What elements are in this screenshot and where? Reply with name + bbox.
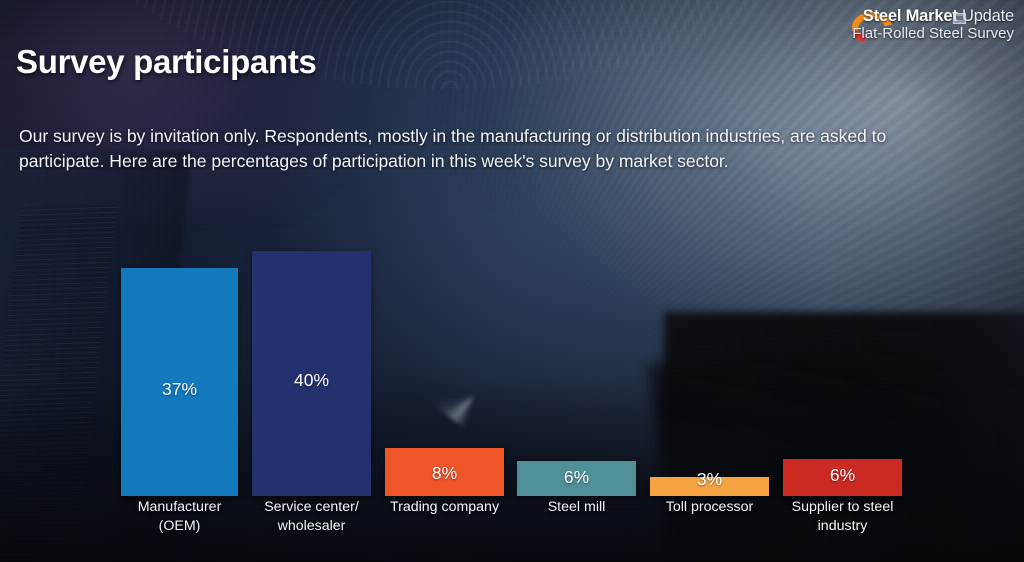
- category-label-line: Steel mill: [517, 498, 636, 517]
- bar-value-label: 37%: [121, 379, 238, 400]
- bar-value-label: 3%: [650, 469, 769, 490]
- category-label: Supplier to steelindustry: [783, 498, 902, 536]
- category-label: Trading company: [385, 498, 504, 517]
- category-label-line: Supplier to steel: [783, 498, 902, 517]
- bar-value-label: 40%: [252, 370, 371, 391]
- category-label-line: Trading company: [385, 498, 504, 517]
- category-label: Steel mill: [517, 498, 636, 517]
- small-square-badge-icon: [953, 13, 966, 24]
- category-label-line: Service center/: [252, 498, 371, 517]
- category-label: Toll processor: [650, 498, 769, 517]
- bar-value-label: 6%: [783, 465, 902, 486]
- category-label-line: industry: [783, 517, 902, 536]
- category-label-line: wholesaler: [252, 517, 371, 536]
- category-label-line: Manufacturer (OEM): [121, 498, 238, 536]
- logo-tagline: Flat-Rolled Steel Survey: [818, 26, 1018, 41]
- logo-brand-bold: Steel Market: [863, 7, 958, 25]
- bar-chart: 37%Manufacturer (OEM)40%Service center/w…: [0, 0, 1024, 562]
- category-label: Service center/wholesaler: [252, 498, 371, 536]
- logo-brand-line: Steel Market Update: [818, 8, 1018, 25]
- bar-value-label: 6%: [517, 467, 636, 488]
- category-label: Manufacturer (OEM): [121, 498, 238, 536]
- bar-value-label: 8%: [385, 463, 504, 484]
- category-label-line: Toll processor: [650, 498, 769, 517]
- slide-canvas: Steel Market Update Flat-Rolled Steel Su…: [0, 0, 1024, 562]
- logo-brand-light: Update: [958, 7, 1014, 25]
